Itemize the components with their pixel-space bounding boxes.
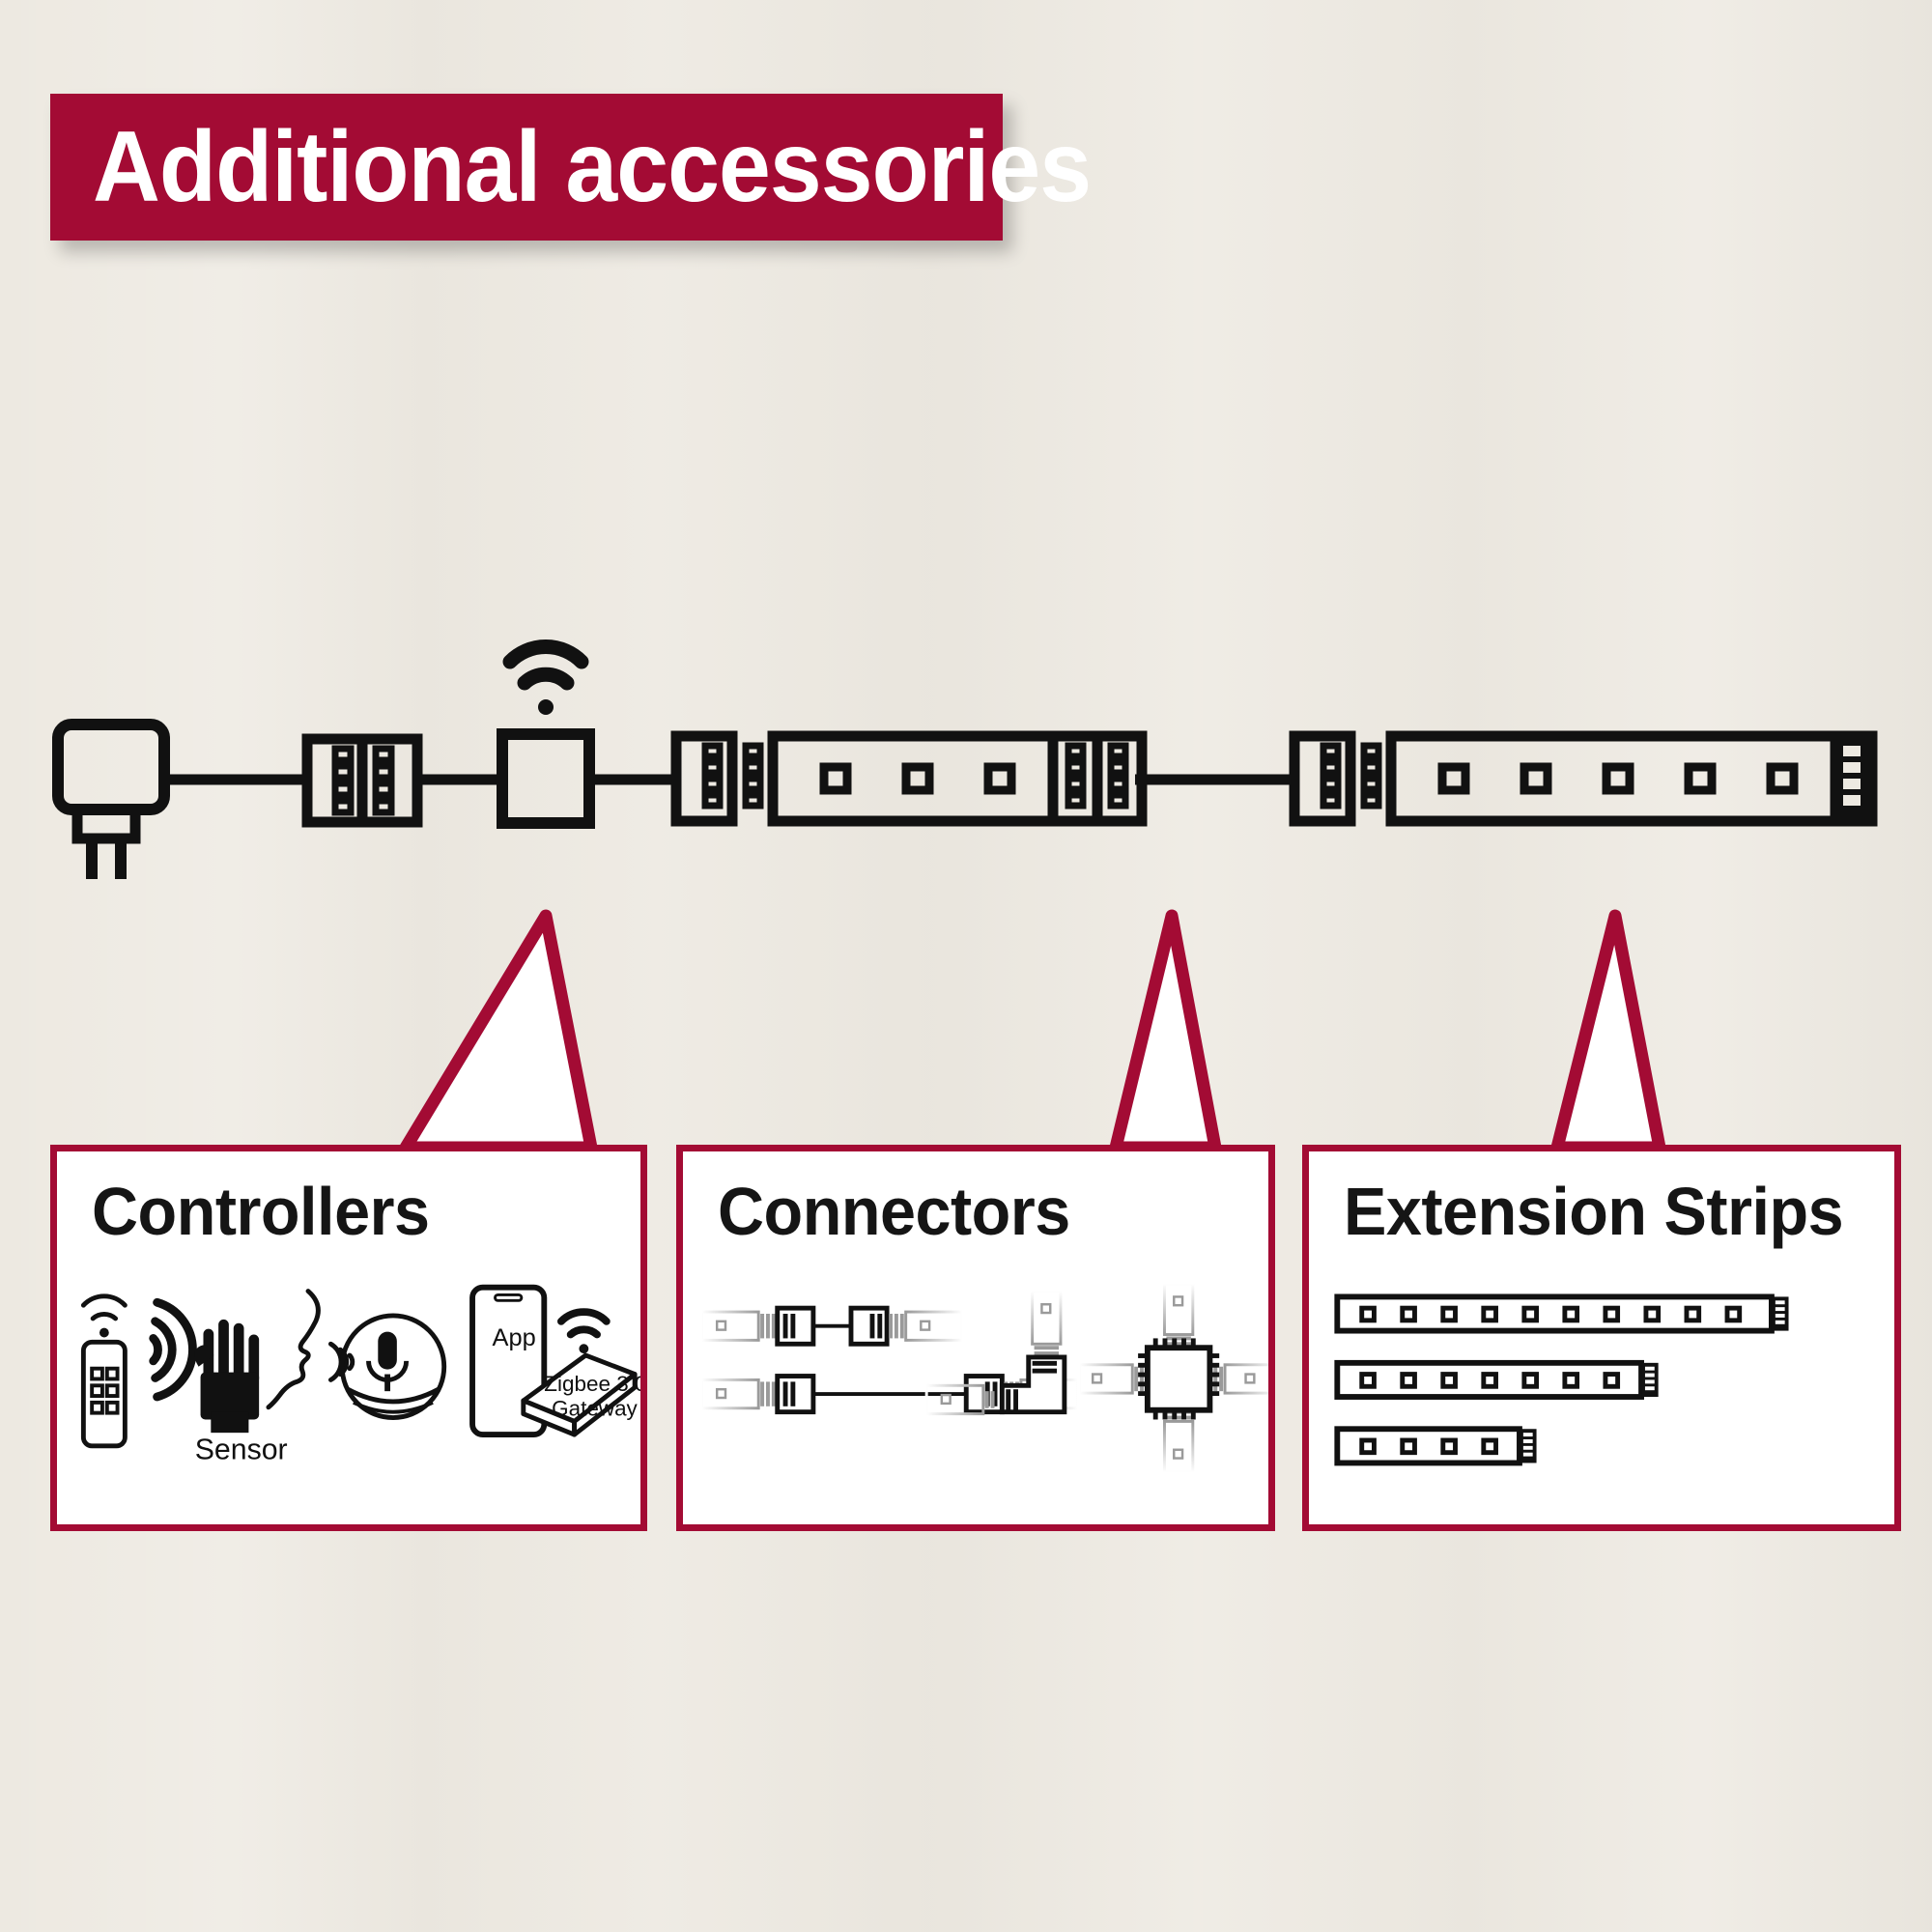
system-schematic (0, 638, 1932, 927)
card-extensions[interactable]: Extension Strips (1302, 1145, 1901, 1531)
gateway-label-line1: Zigbee 3.0 (544, 1372, 640, 1396)
wireless-controller-icon (502, 734, 589, 823)
gateway-wifi-icon (561, 1312, 607, 1353)
cross-connector-icon (1080, 1284, 1268, 1472)
card-connectors[interactable]: Connectors (676, 1145, 1275, 1531)
pointer-extensions (1557, 916, 1660, 1148)
gateway-label-line2: Gateway (552, 1397, 638, 1421)
wifi-icon (510, 647, 582, 715)
card-extensions-title: Extension Strips (1344, 1173, 1843, 1250)
pointer-controllers (406, 916, 591, 1148)
short-cable-connector-icon (702, 1308, 963, 1344)
title-banner: Additional accessories (50, 94, 1003, 241)
callout-pointers (0, 0, 1932, 1932)
card-connectors-figure (683, 1277, 1268, 1519)
voice-assistant-icon (269, 1292, 444, 1418)
microphone-icon (369, 1332, 407, 1392)
hand-icon (194, 1320, 259, 1433)
pointer-connectors (1116, 916, 1215, 1148)
power-supply-icon (58, 724, 164, 879)
background-texture (0, 0, 1932, 1932)
inline-connector-icon (307, 735, 417, 826)
led-strip-segment-2 (1294, 733, 1872, 825)
card-controllers-figure: Sensor App (57, 1277, 640, 1519)
app-label: App (493, 1324, 536, 1351)
extension-strip-short (1337, 1429, 1536, 1463)
motion-sensor-icon: Sensor (154, 1302, 288, 1465)
remote-control-icon (83, 1296, 125, 1446)
card-controllers-title: Controllers (92, 1173, 429, 1250)
extension-strip-medium (1337, 1363, 1658, 1397)
card-controllers[interactable]: Controllers (50, 1145, 647, 1531)
extension-strip-long (1337, 1296, 1788, 1330)
page-title: Additional accessories (93, 117, 1091, 217)
led-strip-segment-1 (676, 733, 1142, 825)
sensor-label: Sensor (195, 1435, 288, 1466)
card-extensions-figure (1309, 1277, 1894, 1519)
card-connectors-title: Connectors (718, 1173, 1070, 1250)
